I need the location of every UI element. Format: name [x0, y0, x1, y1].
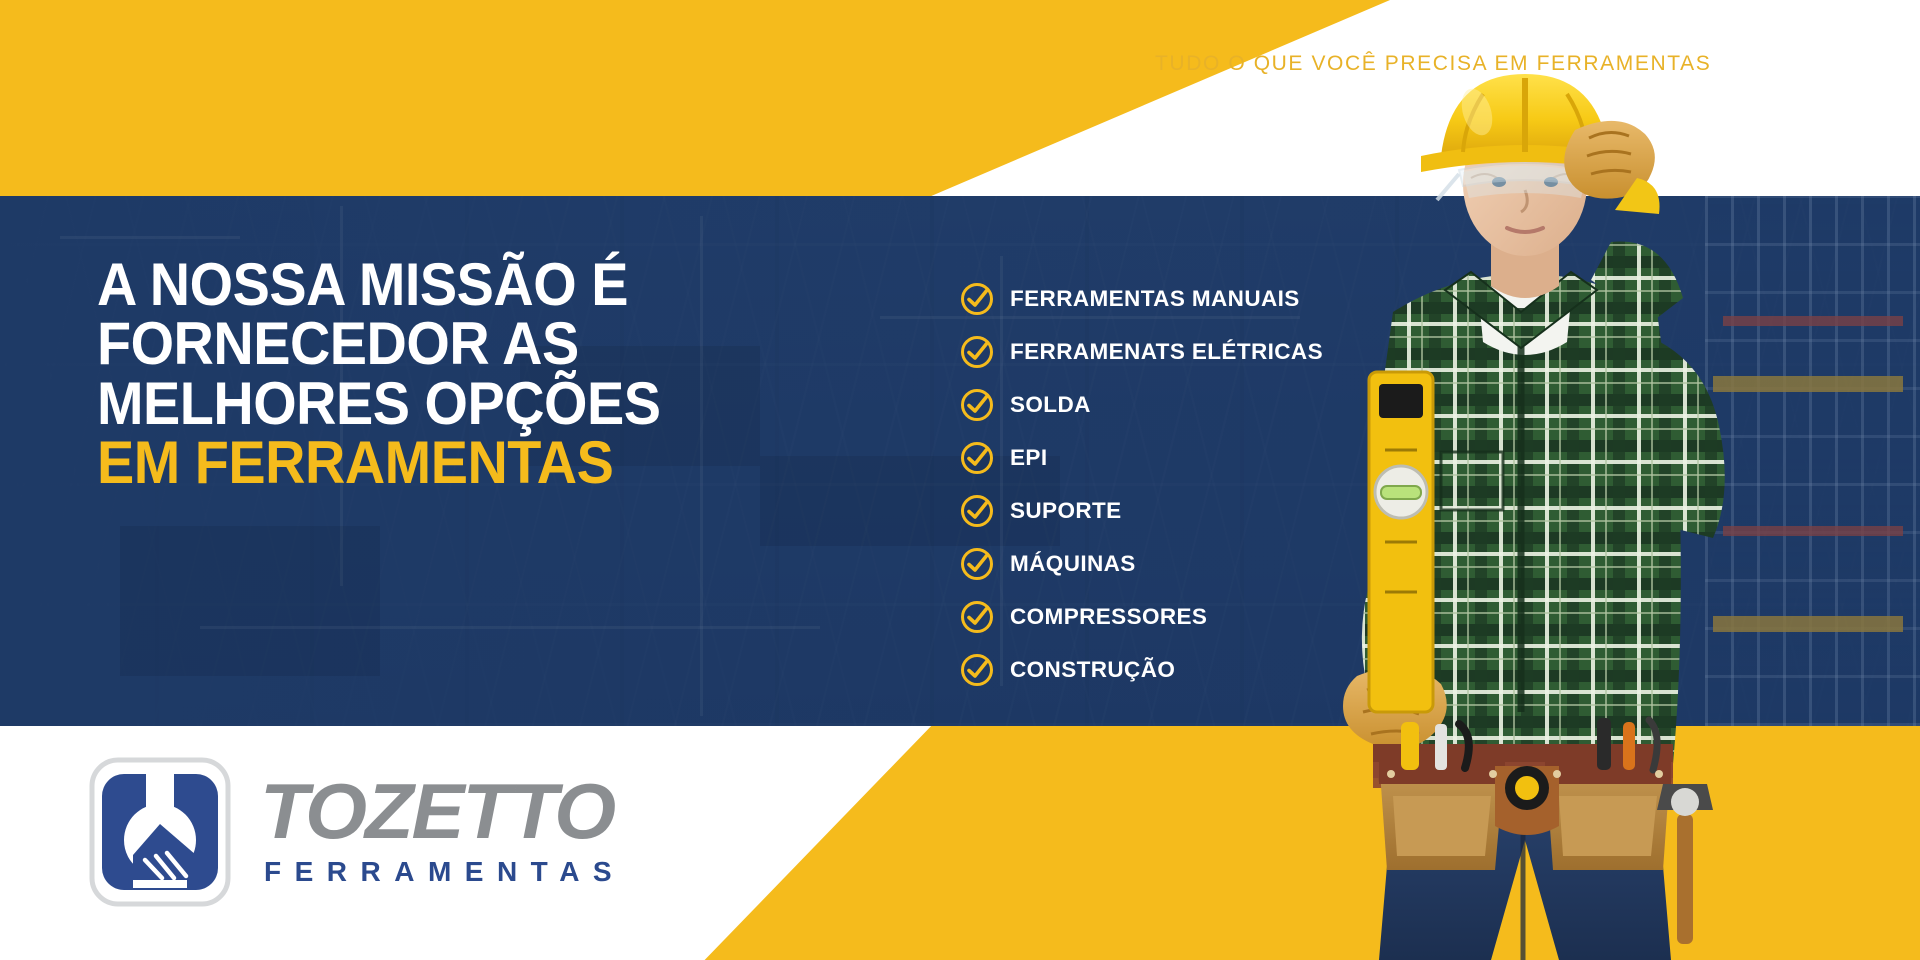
list-item-label: SOLDA [1010, 392, 1091, 418]
scaffold-line [700, 216, 703, 716]
headline-line-4-accent: EM FERRAMENTAS [97, 433, 661, 492]
list-item-label: SUPORTE [1010, 498, 1122, 524]
list-item-label: CONSTRUÇÃO [1010, 657, 1175, 683]
check-circle-icon [960, 600, 994, 634]
promo-banner: TUDO O QUE VOCÊ PRECISA EM FERRAMENTAS A… [0, 0, 1920, 960]
logo-subtitle: FERRAMENTAS [264, 856, 625, 888]
construction-worker-photo [1245, 72, 1805, 960]
headline-line-3: MELHORES OPÇÕES [97, 374, 661, 433]
check-circle-icon [960, 335, 994, 369]
scaffold-line [200, 626, 820, 629]
wrench-hand-logo-icon [88, 756, 232, 908]
check-circle-icon [960, 547, 994, 581]
check-circle-icon [960, 653, 994, 687]
logo-wordmark: TOZETTO FERRAMENTAS [260, 776, 625, 888]
headline: A NOSSA MISSÃO É FORNECEDOR AS MELHORES … [97, 255, 661, 493]
brand-logo[interactable]: TOZETTO FERRAMENTAS [88, 756, 625, 908]
check-circle-icon [960, 282, 994, 316]
list-item-label: EPI [1010, 445, 1047, 471]
list-item-label: COMPRESSORES [1010, 604, 1207, 630]
headline-line-1: A NOSSA MISSÃO É [97, 255, 661, 314]
scaffold-line [60, 236, 240, 239]
check-circle-icon [960, 441, 994, 475]
logo-word: TOZETTO [260, 776, 632, 848]
list-item-label: MÁQUINAS [1010, 551, 1136, 577]
top-yellow-wedge [0, 0, 1390, 196]
scaffold-block [120, 526, 380, 676]
check-circle-icon [960, 388, 994, 422]
check-circle-icon [960, 494, 994, 528]
headline-line-2: FORNECEDOR AS [97, 314, 661, 373]
